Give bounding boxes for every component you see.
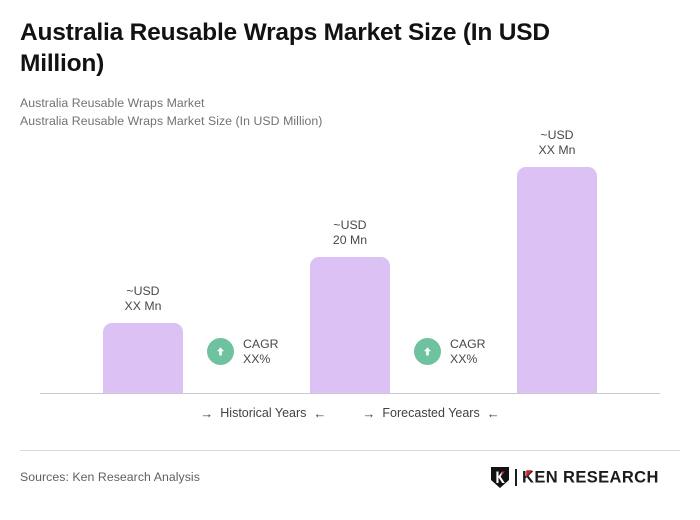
arrow-left-icon: ←	[487, 407, 500, 420]
bar-value-label-base-year: ~USD 20 Mn	[310, 218, 390, 247]
bar-base-year[interactable]	[310, 257, 390, 394]
chart-card: Australia Reusable Wraps Market Size (In…	[0, 0, 700, 520]
bar-value-label-forecast: ~USD XX Mn	[517, 128, 597, 157]
svg-text:KEN RESEARCH: KEN RESEARCH	[522, 469, 659, 487]
legend-historical-label: Historical Years	[220, 406, 306, 420]
legend-forecast-label: Forecasted Years	[382, 406, 479, 420]
cagr-annotation-historical: CAGR XX%	[207, 337, 279, 366]
cagr-label-historical: CAGR XX%	[243, 337, 279, 366]
chart-footer: Sources: Ken Research Analysis KEN RESEA…	[20, 462, 680, 492]
bar-forecast[interactable]	[517, 167, 597, 394]
arrow-left-icon: ←	[313, 407, 326, 420]
arrow-right-icon: →	[362, 407, 375, 420]
brand-divider	[515, 469, 517, 486]
plot-area: ~USD XX Mn ~USD 20 Mn ~USD XX Mn CAGR XX…	[0, 0, 700, 400]
footer-divider	[20, 450, 680, 451]
sources-text: Sources: Ken Research Analysis	[20, 470, 200, 484]
ken-research-shield-icon	[490, 466, 510, 489]
x-axis-line	[40, 393, 660, 394]
cagr-label-forecast: CAGR XX%	[450, 337, 486, 366]
bar-historical[interactable]	[103, 323, 183, 394]
brand-wordmark: KEN RESEARCH	[522, 467, 680, 487]
cagr-annotation-forecast: CAGR XX%	[414, 337, 486, 366]
period-legend: → Historical Years ← → Forecasted Years …	[40, 406, 660, 420]
arrow-up-icon	[207, 338, 234, 365]
brand-logo: KEN RESEARCH	[490, 466, 680, 489]
legend-historical-years: → Historical Years ←	[200, 406, 326, 420]
bar-value-label-historical: ~USD XX Mn	[103, 284, 183, 313]
arrow-right-icon: →	[200, 407, 213, 420]
legend-forecasted-years: → Forecasted Years ←	[362, 406, 499, 420]
arrow-up-icon	[414, 338, 441, 365]
